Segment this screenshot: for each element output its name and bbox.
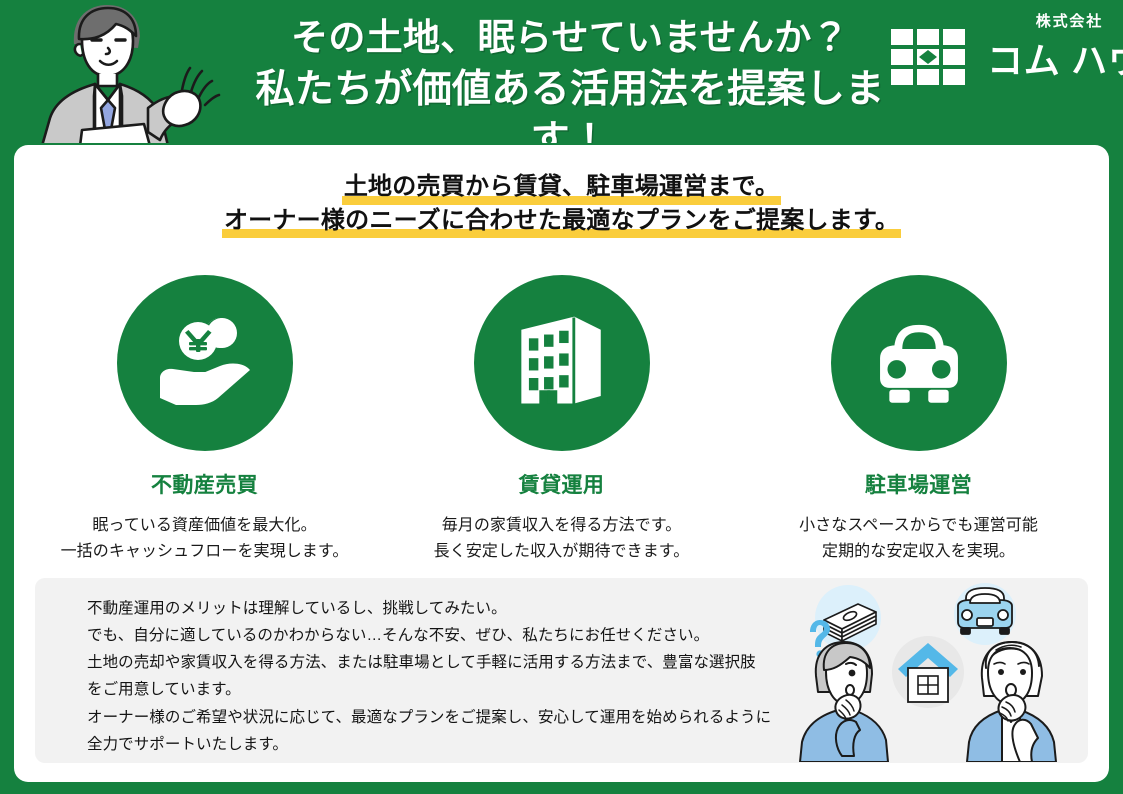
feature-icon-circle-2	[474, 275, 650, 451]
message-line-5: オーナー様のご希望や状況に応じて、最適なプランをご提案し、安心して運用を始められ…	[87, 704, 771, 731]
feature-desc-1-line-2: 一括のキャッシュフローを実現します。	[22, 539, 387, 565]
feature-desc-2-line-2: 長く安定した収入が期待できます。	[379, 539, 744, 565]
feature-desc-3-line-1: 小さなスペースからでも運営可能	[736, 513, 1101, 539]
logo-company-name: コム ハウス	[987, 32, 1123, 84]
subtitle-line-2: オーナー様のニーズに合わせた最適なプランをご提案します。	[222, 205, 901, 239]
message-line-3: 土地の売却や家賃収入を得る方法、または駐車場として手軽に活用する方法まで、豊富な…	[87, 649, 771, 676]
feature-title-3: 駐車場運営	[736, 469, 1101, 499]
logo-company-prefix: 株式会社	[1036, 10, 1103, 31]
message-panel-text: 不動産運用のメリットは理解しているし、挑戦してみたい。 でも、自分に適しているの…	[87, 595, 771, 758]
subtitle-block: 土地の売買から賃貸、駐車場運営まで。 オーナー様のニーズに合わせた最適なプランを…	[14, 171, 1109, 238]
message-line-6: 全力でサポートいたします。	[87, 731, 771, 758]
subtitle-line-1-wrap: 土地の売買から賃貸、駐車場運営まで。	[14, 171, 1109, 205]
feature-icon-circle-1	[117, 275, 293, 451]
feature-desc-3-line-2: 定期的な安定収入を実現。	[736, 539, 1101, 565]
feature-desc-1: 眠っている資産価値を最大化。 一括のキャッシュフローを実現します。	[22, 513, 387, 565]
feature-desc-3: 小さなスペースからでも運営可能 定期的な安定収入を実現。	[736, 513, 1101, 565]
blue-car-icon	[958, 588, 1012, 634]
car-front-icon	[863, 310, 975, 417]
apartment-building-icon	[510, 309, 614, 418]
message-line-1: 不動産運用のメリットは理解しているし、挑戦してみたい。	[87, 595, 771, 622]
hand-with-yen-coins-icon	[150, 306, 260, 421]
worried-seniors-illustration	[780, 580, 1080, 762]
header-headline: その土地、眠らせていませんか？ 私たちが価値ある活用法を提案します！	[240, 14, 900, 143]
subtitle-line-1: 土地の売買から賃貸、駐車場運営まで。	[342, 171, 781, 205]
feature-title-1: 不動産売買	[22, 469, 387, 499]
feature-column-rental-management: 賃貸運用 毎月の家賃収入を得る方法です。 長く安定した収入が期待できます。	[379, 275, 744, 565]
feature-desc-1-line-1: 眠っている資産価値を最大化。	[22, 513, 387, 539]
headline-line-2: 私たちが価値ある活用法を提案します！	[240, 65, 900, 143]
feature-title-2: 賃貸運用	[379, 469, 744, 499]
feature-columns: 不動産売買 眠っている資産価値を最大化。 一括のキャッシュフローを実現します。	[14, 275, 1109, 545]
feature-desc-2: 毎月の家賃収入を得る方法です。 長く安定した収入が期待できます。	[379, 513, 744, 565]
message-line-4: をご用意しています。	[87, 676, 771, 703]
headline-line-1: その土地、眠らせていませんか？	[240, 14, 900, 61]
senior-man-figure	[967, 642, 1056, 762]
content-card: 土地の売買から賃貸、駐車場運営まで。 オーナー様のニーズに合わせた最適なプランを…	[14, 145, 1109, 782]
feature-icon-circle-3	[831, 275, 1007, 451]
company-logo: 株式会社 コム ハウス	[891, 8, 1107, 88]
senior-woman-figure	[800, 642, 888, 762]
message-panel: 不動産運用のメリットは理解しているし、挑戦してみたい。 でも、自分に適しているの…	[35, 578, 1088, 763]
presenter-illustration	[22, 0, 237, 143]
logo-grid-icon	[891, 29, 975, 90]
feature-column-parking-operation: 駐車場運営 小さなスペースからでも運営可能 定期的な安定収入を実現。	[736, 275, 1101, 565]
page-header: その土地、眠らせていませんか？ 私たちが価値ある活用法を提案します！ 株式会社	[0, 0, 1123, 143]
subtitle-line-2-wrap: オーナー様のニーズに合わせた最適なプランをご提案します。	[14, 205, 1109, 239]
feature-desc-2-line-1: 毎月の家賃収入を得る方法です。	[379, 513, 744, 539]
feature-column-real-estate-sales: 不動産売買 眠っている資産価値を最大化。 一括のキャッシュフローを実現します。	[22, 275, 387, 565]
message-line-2: でも、自分に適しているのかわからない…そんな不安、ぜひ、私たちにお任せください。	[87, 622, 771, 649]
